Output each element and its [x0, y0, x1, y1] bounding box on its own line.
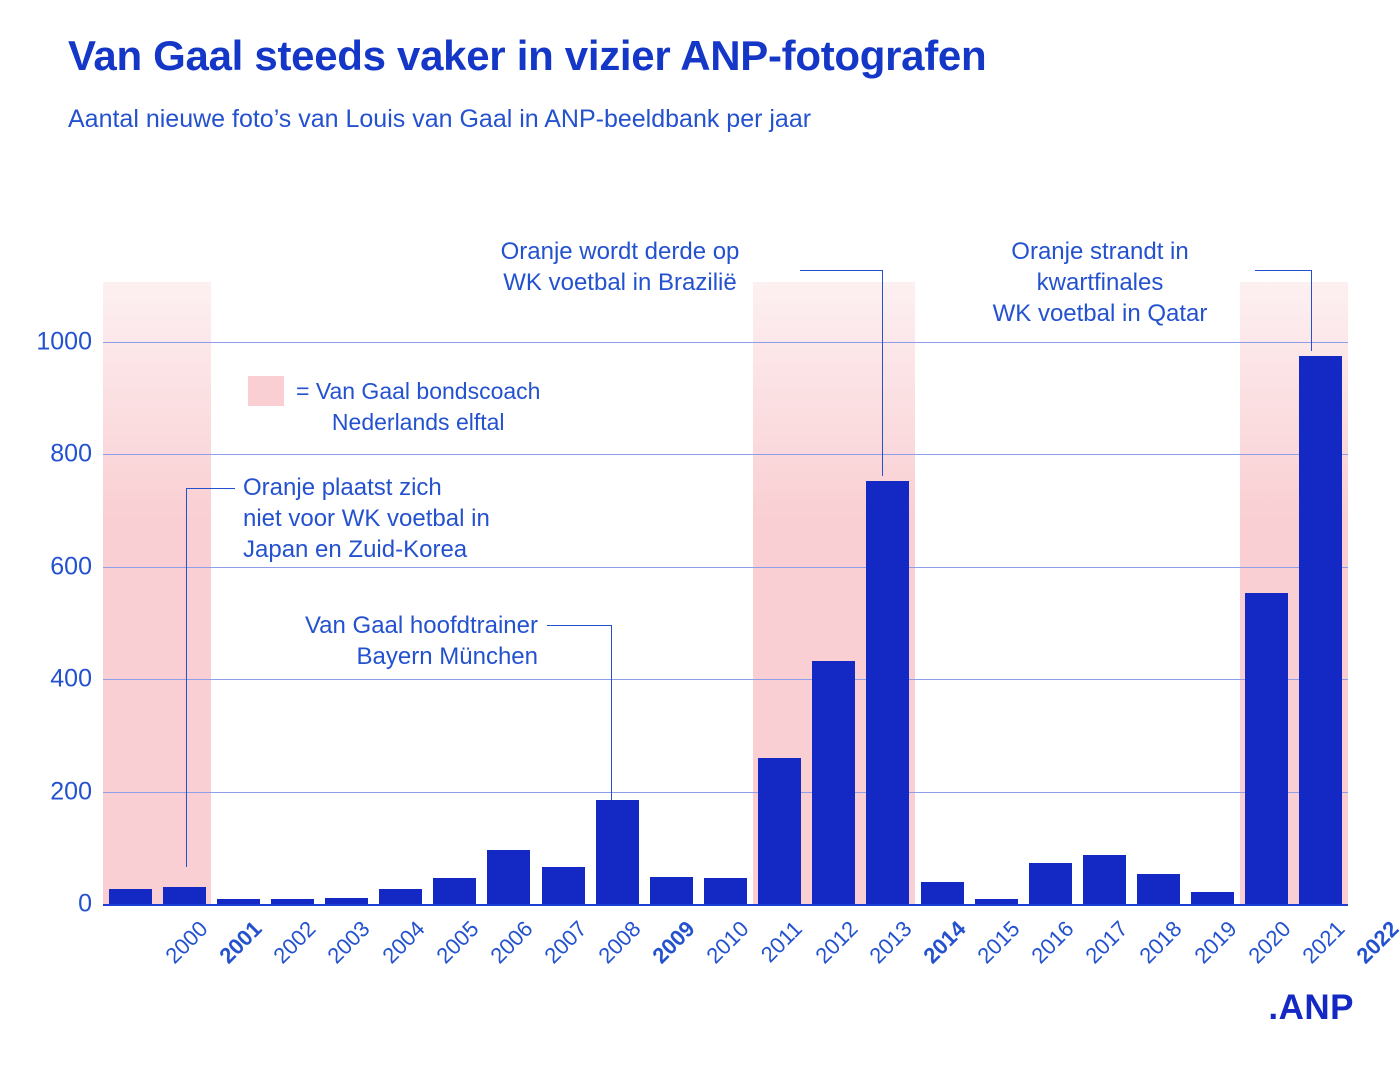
- bar-2011[interactable]: [704, 878, 747, 904]
- bar-2007[interactable]: [487, 850, 530, 904]
- x-axis-tick-2014: 2014: [918, 916, 971, 969]
- axis-line-x: [103, 904, 1348, 906]
- x-axis-tick-2015: 2015: [972, 916, 1025, 969]
- bar-2021[interactable]: [1245, 593, 1288, 904]
- x-axis-tick-2016: 2016: [1026, 916, 1079, 969]
- bar-2012[interactable]: [758, 758, 801, 904]
- bar-2015[interactable]: [921, 882, 964, 904]
- annotation-leader-2001: [186, 488, 235, 867]
- x-axis-tick-2018: 2018: [1135, 916, 1188, 969]
- annotation-leader-2009: [547, 625, 612, 800]
- x-axis-tick-2009: 2009: [648, 916, 701, 969]
- bar-2014[interactable]: [866, 481, 909, 904]
- bar-2008[interactable]: [542, 867, 585, 904]
- x-axis-tick-2021: 2021: [1297, 916, 1350, 969]
- annotation-2009: Van Gaal hoofdtrainer Bayern München: [238, 610, 538, 672]
- annotation-2022: Oranje strandt in kwartfinales WK voetba…: [955, 236, 1245, 330]
- x-axis-tick-2022: 2022: [1351, 916, 1400, 969]
- chart-legend: = Van Gaal bondscoach Nederlands elftal: [248, 376, 540, 438]
- y-axis-tick-800: 800: [50, 440, 92, 469]
- y-axis-tick-1000: 1000: [36, 328, 92, 357]
- y-axis-tick-200: 200: [50, 777, 92, 806]
- bar-2001[interactable]: [163, 887, 206, 904]
- x-axis-tick-2005: 2005: [431, 916, 484, 969]
- bar-2020[interactable]: [1191, 892, 1234, 904]
- gridline-400: [103, 679, 1348, 680]
- y-axis-tick-0: 0: [78, 890, 92, 919]
- legend-swatch-bondscoach: [248, 376, 284, 406]
- bar-2017[interactable]: [1029, 863, 1072, 904]
- x-axis-tick-2003: 2003: [323, 916, 376, 969]
- x-axis-tick-2007: 2007: [539, 916, 592, 969]
- bar-2009[interactable]: [596, 800, 639, 904]
- bar-2004[interactable]: [325, 898, 368, 904]
- bar-2003[interactable]: [271, 899, 314, 904]
- annotation-2014: Oranje wordt derde op WK voetbal in Braz…: [455, 236, 785, 298]
- gridline-600: [103, 567, 1348, 568]
- legend-label-bondscoach: = Van Gaal bondscoach Nederlands elftal: [296, 376, 540, 438]
- x-axis-tick-2001: 2001: [215, 916, 268, 969]
- x-axis-tick-2002: 2002: [269, 916, 322, 969]
- bar-2018[interactable]: [1083, 855, 1126, 904]
- bar-2016[interactable]: [975, 899, 1018, 904]
- x-axis-tick-2008: 2008: [593, 916, 646, 969]
- x-axis-tick-2004: 2004: [377, 916, 430, 969]
- gridline-1000: [103, 342, 1348, 343]
- bar-2005[interactable]: [379, 889, 422, 904]
- bar-2000[interactable]: [109, 889, 152, 904]
- x-axis-tick-2017: 2017: [1081, 916, 1134, 969]
- x-axis-tick-2006: 2006: [485, 916, 538, 969]
- x-axis-tick-2010: 2010: [702, 916, 755, 969]
- annotation-2001: Oranje plaatst zich niet voor WK voetbal…: [243, 472, 490, 566]
- bar-2006[interactable]: [433, 878, 476, 904]
- x-axis-tick-2000: 2000: [160, 916, 213, 969]
- bar-2013[interactable]: [812, 661, 855, 904]
- bar-2010[interactable]: [650, 877, 693, 904]
- gridline-200: [103, 792, 1348, 793]
- gridline-800: [103, 454, 1348, 455]
- y-axis-tick-600: 600: [50, 552, 92, 581]
- bar-2019[interactable]: [1137, 874, 1180, 904]
- x-axis-tick-2013: 2013: [864, 916, 917, 969]
- x-axis-tick-2020: 2020: [1243, 916, 1296, 969]
- bar-2022[interactable]: [1299, 356, 1342, 905]
- anp-logo: .ANP: [1268, 988, 1354, 1028]
- y-axis-tick-400: 400: [50, 665, 92, 694]
- x-axis-tick-2019: 2019: [1189, 916, 1242, 969]
- bar-2002[interactable]: [217, 899, 260, 904]
- x-axis-tick-2011: 2011: [755, 916, 807, 968]
- annotation-leader-2014: [800, 270, 883, 476]
- annotation-leader-2022: [1255, 270, 1312, 351]
- x-axis-tick-2012: 2012: [810, 916, 863, 969]
